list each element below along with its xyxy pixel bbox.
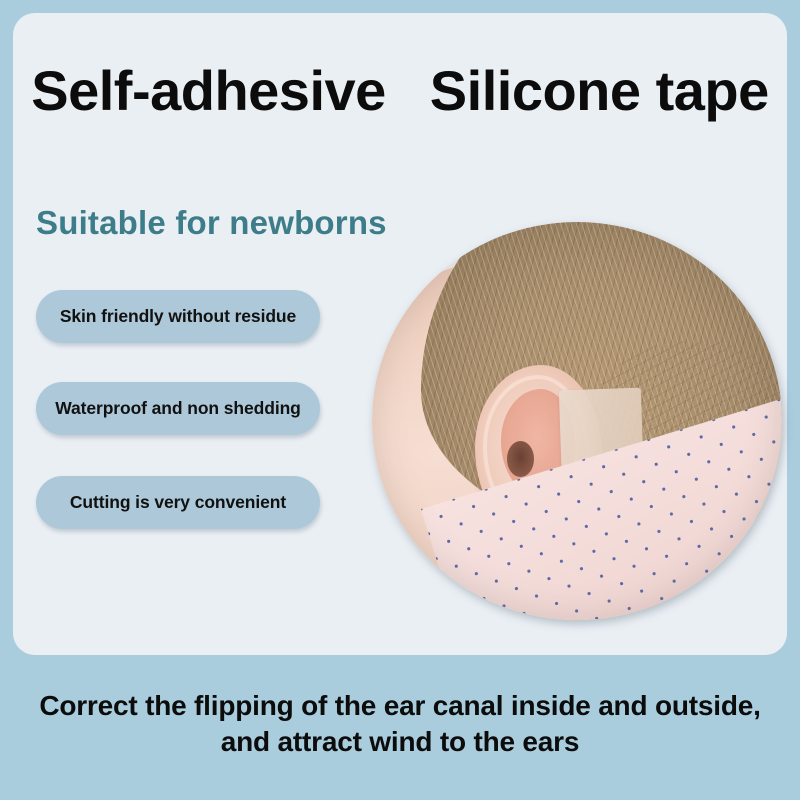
product-poster: Self-adhesiveSilicone tape Suitable for …: [0, 0, 800, 800]
feature-pill-label: Cutting is very convenient: [70, 492, 286, 513]
photo-vignette: [372, 222, 782, 620]
feature-pill-label: Waterproof and non shedding: [55, 398, 301, 419]
product-photo-circle: [372, 222, 782, 620]
caption-line-1: Correct the flipping of the ear canal in…: [0, 688, 800, 724]
bottom-caption: Correct the flipping of the ear canal in…: [0, 688, 800, 760]
feature-pill-cutting: Cutting is very convenient: [36, 476, 320, 529]
feature-pill-waterproof: Waterproof and non shedding: [36, 382, 320, 435]
caption-line-2: and attract wind to the ears: [0, 724, 800, 760]
headline-part-2: Silicone tape: [430, 62, 769, 121]
feature-pill-skin-friendly: Skin friendly without residue: [36, 290, 320, 343]
headline-part-1: Self-adhesive: [31, 62, 386, 121]
feature-pill-label: Skin friendly without residue: [60, 306, 296, 327]
page-title: Self-adhesiveSilicone tape: [0, 62, 800, 121]
subtitle: Suitable for newborns: [36, 204, 387, 242]
